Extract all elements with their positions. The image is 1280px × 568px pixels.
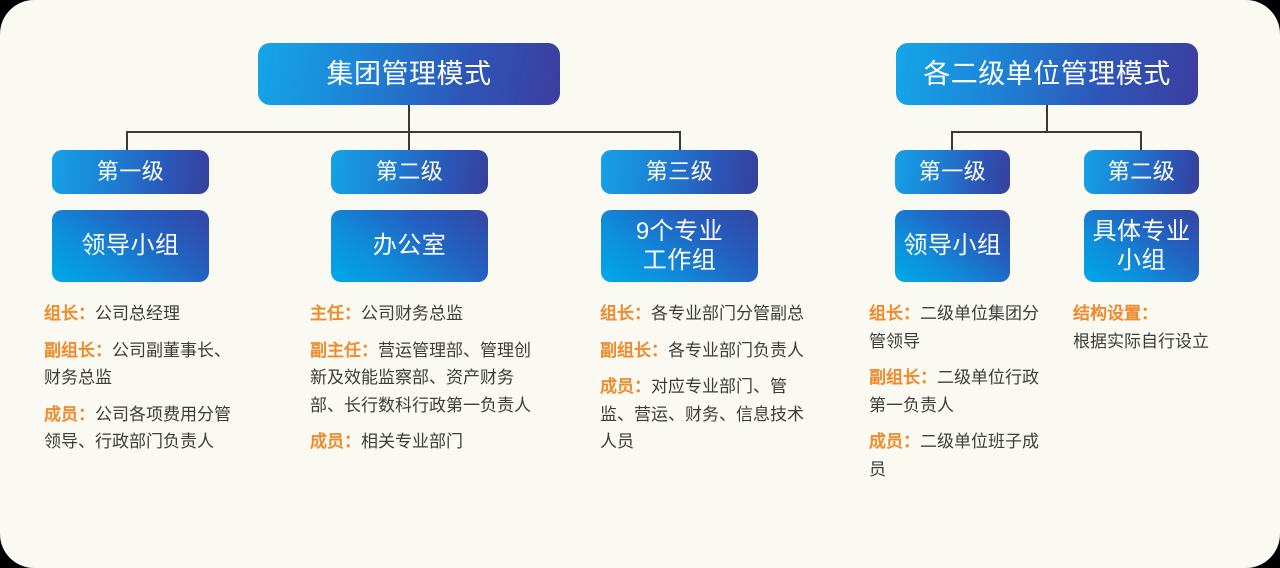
- level-box-group-1: 第一级: [52, 150, 209, 194]
- detail-label: 组长：: [600, 304, 651, 323]
- connector-group-drop-1: [126, 131, 128, 151]
- section-header-group: 集团管理模式: [258, 43, 560, 105]
- unit-box-group-3: 9个专业 工作组: [601, 210, 758, 282]
- detail-item: 成员：对应专业部门、管监、营运、财务、信息技术人员: [600, 373, 810, 456]
- detail-label: 结构设置：: [1073, 304, 1158, 323]
- detail-text: 各专业部门负责人: [668, 341, 804, 360]
- level-box-secondary-1: 第一级: [895, 150, 1010, 194]
- unit-box-secondary-1: 领导小组: [895, 210, 1010, 282]
- detail-text: 公司总经理: [95, 304, 180, 323]
- detail-label: 主任：: [310, 304, 361, 323]
- detail-label: 组长：: [44, 304, 95, 323]
- unit-box-group-1: 领导小组: [52, 210, 209, 282]
- detail-label: 组长：: [869, 304, 920, 323]
- detail-list-group-3: 组长：各专业部门分管副总 副组长：各专业部门负责人 成员：对应专业部门、管监、营…: [600, 300, 810, 456]
- detail-text: 各专业部门分管副总: [651, 304, 804, 323]
- diagram-canvas: 集团管理模式 第一级 领导小组 组长：公司总经理 副组长：公司副董事长、财务总监…: [0, 0, 1280, 568]
- detail-item: 主任：公司财务总监: [310, 300, 544, 328]
- level-box-group-2: 第二级: [331, 150, 488, 194]
- detail-label: 副主任：: [310, 341, 378, 360]
- connector-secondary-drop-1: [951, 131, 953, 151]
- detail-label: 成员：: [869, 432, 920, 451]
- detail-item: 组长：各专业部门分管副总: [600, 300, 810, 328]
- detail-item: 副组长：公司副董事长、财务总监: [44, 337, 244, 392]
- detail-text: 根据实际自行设立: [1073, 332, 1209, 351]
- detail-item: 组长：公司总经理: [44, 300, 244, 328]
- detail-item: 成员：相关专业部门: [310, 428, 544, 456]
- detail-list-group-2: 主任：公司财务总监 副主任：营运管理部、管理创新及效能监察部、资产财务部、长行数…: [310, 300, 544, 456]
- detail-label: 副组长：: [869, 368, 937, 387]
- detail-label: 成员：: [44, 405, 95, 424]
- detail-text: 相关专业部门: [361, 432, 463, 451]
- connector-group-drop-3: [679, 131, 681, 151]
- detail-item: 副主任：营运管理部、管理创新及效能监察部、资产财务部、长行数科行政第一负责人: [310, 337, 544, 420]
- detail-item: 组长：二级单位集团分管领导: [869, 300, 1044, 355]
- connector-group-drop-2: [408, 131, 410, 151]
- connector-secondary-stem: [1046, 105, 1048, 132]
- section-header-secondary: 各二级单位管理模式: [896, 43, 1198, 105]
- detail-list-secondary-1: 组长：二级单位集团分管领导 副组长：二级单位行政第一负责人 成员：二级单位班子成…: [869, 300, 1044, 483]
- connector-group-stem: [408, 105, 410, 132]
- detail-item: 成员：二级单位班子成员: [869, 428, 1044, 483]
- detail-label: 副组长：: [44, 341, 112, 360]
- unit-box-group-2: 办公室: [331, 210, 488, 282]
- level-box-group-3: 第三级: [601, 150, 758, 194]
- connector-secondary-drop-2: [1140, 131, 1142, 151]
- detail-text: 公司财务总监: [361, 304, 463, 323]
- level-box-secondary-2: 第二级: [1084, 150, 1199, 194]
- detail-list-group-1: 组长：公司总经理 副组长：公司副董事长、财务总监 成员：公司各项费用分管领导、行…: [44, 300, 244, 456]
- detail-item: 副组长：各专业部门负责人: [600, 337, 810, 365]
- connector-group-bus: [127, 131, 681, 133]
- detail-list-secondary-2: 结构设置：根据实际自行设立: [1073, 300, 1233, 355]
- detail-item: 成员：公司各项费用分管领导、行政部门负责人: [44, 401, 244, 456]
- detail-label: 成员：: [600, 377, 651, 396]
- detail-item: 副组长：二级单位行政第一负责人: [869, 364, 1044, 419]
- detail-label: 副组长：: [600, 341, 668, 360]
- unit-box-secondary-2: 具体专业 小组: [1084, 210, 1199, 282]
- detail-item: 结构设置：根据实际自行设立: [1073, 300, 1233, 355]
- detail-label: 成员：: [310, 432, 361, 451]
- connector-secondary-bus: [952, 131, 1142, 133]
